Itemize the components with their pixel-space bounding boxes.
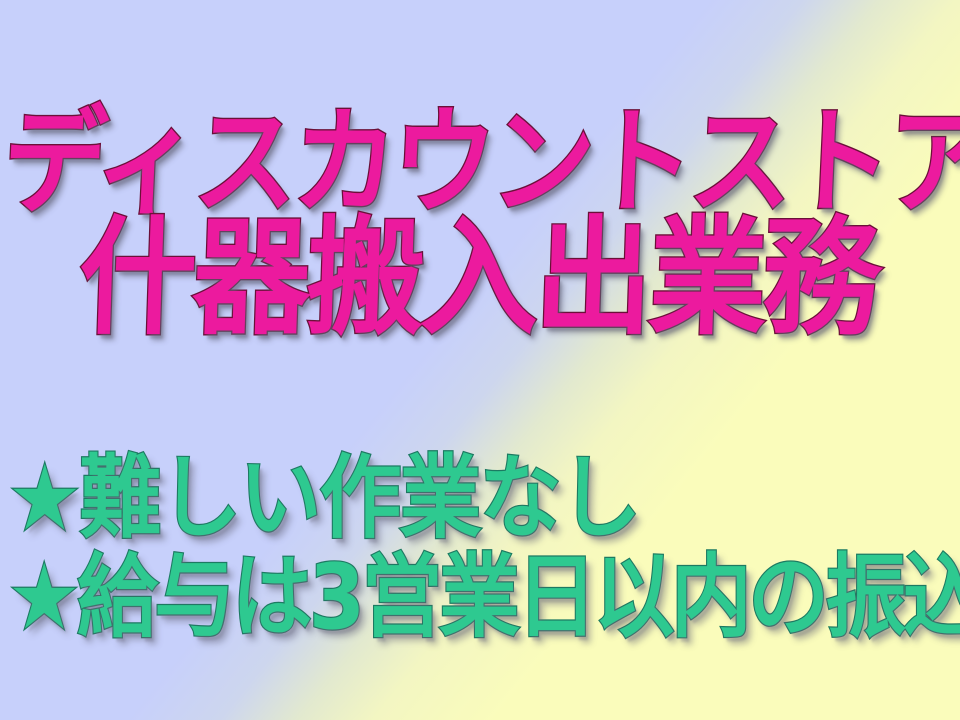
headline-line-2: 什器搬入出業務 bbox=[0, 214, 960, 341]
star-icon: ★ bbox=[8, 452, 80, 546]
poster-canvas: ディスカウントストア 什器搬入出業務 ★難しい作業なし ★給与は3営業日以内の振… bbox=[0, 0, 960, 720]
bullets-block: ★難しい作業なし ★給与は3営業日以内の振込 bbox=[8, 452, 960, 637]
headline-block: ディスカウントストア 什器搬入出業務 bbox=[0, 104, 960, 332]
bullet-item-1-label: 難しい作業なし bbox=[80, 447, 640, 552]
bullet-item-2: ★給与は3営業日以内の振込 bbox=[8, 551, 946, 645]
bullet-item-1: ★難しい作業なし bbox=[8, 452, 960, 546]
bullet-item-2-label: 給与は3営業日以内の振込 bbox=[77, 546, 960, 651]
star-icon: ★ bbox=[8, 551, 77, 645]
